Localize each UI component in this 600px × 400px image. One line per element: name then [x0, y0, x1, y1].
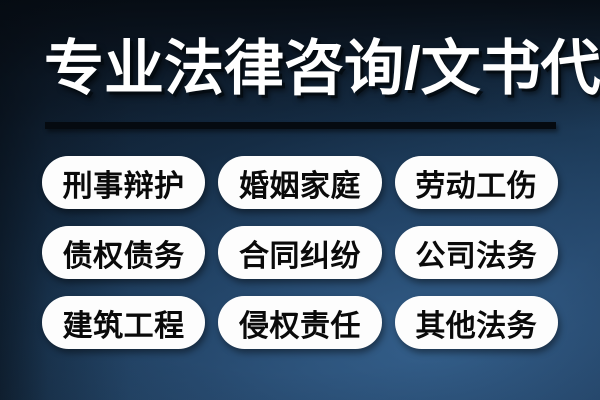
service-row: 债权债务 合同纠纷 公司法务	[42, 226, 558, 279]
service-pill-construction-engineering[interactable]: 建筑工程	[42, 296, 205, 349]
service-pill-labor-injury[interactable]: 劳动工伤	[395, 156, 558, 209]
poster-content: 专业法律咨询/文书代写 刑事辩护 婚姻家庭 劳动工伤 债权债务 合同纠纷 公司法…	[0, 0, 600, 400]
service-pill-other-legal[interactable]: 其他法务	[395, 296, 558, 349]
service-pill-corporate-legal[interactable]: 公司法务	[395, 226, 558, 279]
service-pill-criminal-defense[interactable]: 刑事辩护	[42, 156, 205, 209]
poster-headline: 专业法律咨询/文书代写	[44, 27, 560, 111]
legal-services-poster: 专业法律咨询/文书代写 刑事辩护 婚姻家庭 劳动工伤 债权债务 合同纠纷 公司法…	[0, 0, 600, 400]
service-pill-marriage-family[interactable]: 婚姻家庭	[218, 156, 381, 209]
service-pill-tort-liability[interactable]: 侵权责任	[218, 296, 381, 349]
service-pill-grid: 刑事辩护 婚姻家庭 劳动工伤 债权债务 合同纠纷 公司法务 建筑工程 侵权责任 …	[42, 156, 558, 349]
service-pill-creditor-debt[interactable]: 债权债务	[42, 226, 205, 279]
headline-divider	[45, 122, 556, 129]
service-pill-contract-dispute[interactable]: 合同纠纷	[218, 226, 381, 279]
service-row: 刑事辩护 婚姻家庭 劳动工伤	[42, 156, 558, 209]
service-row: 建筑工程 侵权责任 其他法务	[42, 296, 558, 349]
